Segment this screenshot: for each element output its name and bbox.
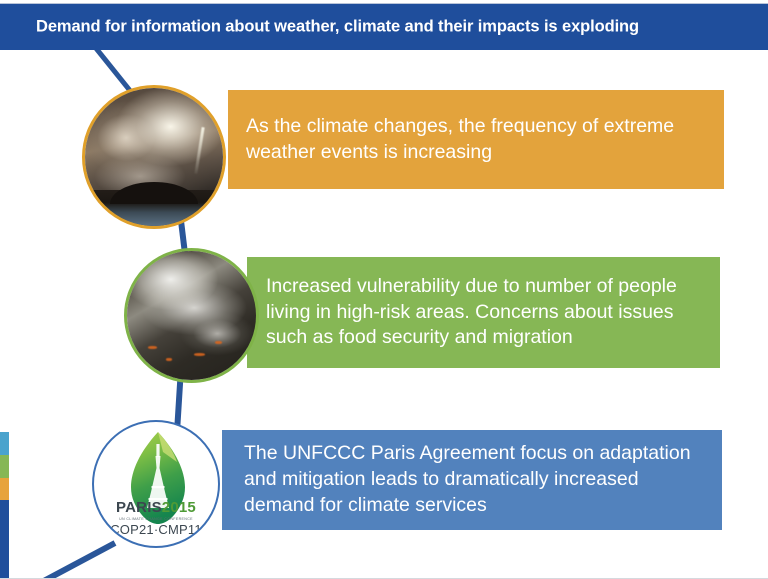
lightning-bolt-icon — [194, 127, 204, 174]
page-title: Demand for information about weather, cl… — [36, 18, 639, 37]
banner-paris-agreement: The UNFCCC Paris Agreement focus on adap… — [222, 430, 722, 530]
top-hairline — [0, 3, 768, 4]
paris2015-logo: PARIS2015 UN CLIMATE CHANGE CONFERENCE C… — [94, 422, 218, 546]
banner-text-paris-agreement: The UNFCCC Paris Agreement focus on adap… — [244, 441, 712, 519]
paris2015-caption: PARIS2015 UN CLIMATE CHANGE CONFERENCE C… — [94, 499, 218, 537]
strip-segment-light-blue — [0, 432, 9, 455]
fire-spot — [215, 341, 222, 344]
strip-segment-dark-blue — [0, 500, 9, 579]
paris2015-title: PARIS2015 — [94, 499, 218, 516]
banner-vulnerability: Increased vulnerability due to number of… — [247, 257, 720, 368]
storm-clouds-photo — [85, 88, 223, 226]
paris-word: PARIS — [116, 499, 162, 516]
banner-text-vulnerability: Increased vulnerability due to number of… — [266, 274, 710, 352]
satellite-smoke-photo — [127, 251, 256, 380]
slide-title-bar: Demand for information about weather, cl… — [0, 4, 768, 50]
conference-subtitle: UN CLIMATE CHANGE CONFERENCE — [94, 517, 218, 521]
cop-code: COP21·CMP11 — [94, 522, 218, 537]
fire-spot — [148, 346, 157, 349]
banner-extreme-weather: As the climate changes, the frequency of… — [228, 90, 724, 189]
circle-satellite-smoke — [124, 248, 259, 383]
circle-paris2015-logo: PARIS2015 UN CLIMATE CHANGE CONFERENCE C… — [92, 420, 220, 548]
circle-storm-clouds — [82, 85, 226, 229]
fire-spot — [194, 353, 205, 356]
strip-segment-green — [0, 455, 9, 478]
connector-circle3-to-bottom — [40, 543, 115, 579]
fire-spot — [166, 358, 172, 361]
hill-silhouette — [110, 182, 198, 204]
year-2015: 2015 — [162, 499, 196, 516]
banner-text-extreme-weather: As the climate changes, the frequency of… — [246, 114, 708, 166]
strip-segment-orange — [0, 478, 9, 500]
left-color-strip — [0, 432, 9, 579]
slide-canvas: Demand for information about weather, cl… — [0, 0, 768, 579]
